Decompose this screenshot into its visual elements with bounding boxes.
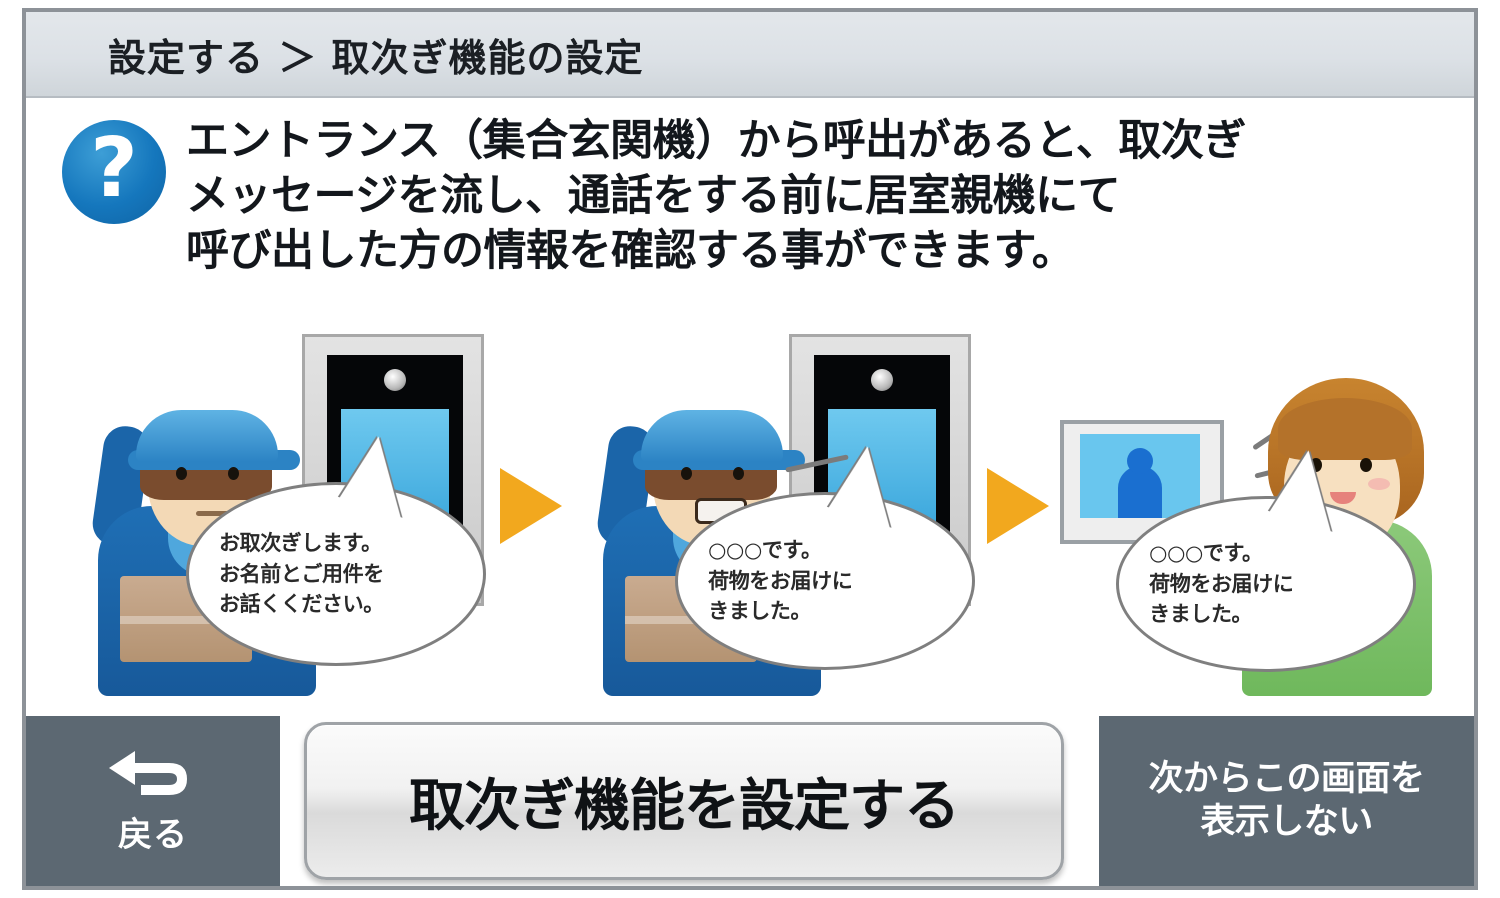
dont-show-again-button[interactable]: 次からこの画面を 表示しない [1099,716,1474,886]
camera-icon [384,369,406,391]
flow-arrow-1-cell [490,468,571,544]
description-block: ? エントランス（集合玄関機）から呼出があると、取次ぎ メッセージを流し、通話を… [62,114,1246,279]
triangle-right-icon [987,468,1049,544]
flow-arrow-2-cell [977,468,1058,544]
speech-bubble-step-1: お取次ぎします。 お名前とご用件を お話くください。 [186,482,486,666]
triangle-right-icon [500,468,562,544]
camera-icon [871,369,893,391]
speech-bubble-step-3: ○○○です。 荷物をお届けに きました。 [1116,496,1416,672]
footer-bar: 戻る 取次ぎ機能を設定する 次からこの画面を 表示しない [26,716,1474,886]
illustration-step-2: ○○○です。 荷物をお届けに きました。 [571,316,977,696]
header-bar: 設定する ＞ 取次ぎ機能の設定 [26,12,1474,98]
eye-left [176,467,187,480]
monitor-screen [1080,434,1200,518]
device-screen: 設定する ＞ 取次ぎ機能の設定 ? エントランス（集合玄関機）から呼出があると、… [0,0,1500,898]
device-frame: 設定する ＞ 取次ぎ機能の設定 ? エントランス（集合玄関機）から呼出があると、… [22,8,1478,890]
content-area: ? エントランス（集合玄関機）から呼出があると、取次ぎ メッセージを流し、通話を… [26,100,1474,716]
cap [136,410,278,462]
question-mark-icon: ? [62,120,166,224]
illustration-step-1: お取次ぎします。 お名前とご用件を お話くください。 [66,316,490,696]
cap [641,410,783,462]
illustration-step-3: ○○○です。 荷物をお届けに きました。 [1058,316,1446,696]
visitor-silhouette-icon [1118,466,1162,518]
speech-bubble-text: ○○○です。 荷物をお届けに きました。 [1119,538,1293,629]
description-text: エントランス（集合玄関機）から呼出があると、取次ぎ メッセージを流し、通話をする… [186,114,1246,279]
set-transfer-function-button[interactable]: 取次ぎ機能を設定する [304,722,1064,880]
breadcrumb: 設定する ＞ 取次ぎ機能の設定 [108,27,643,82]
set-transfer-function-label: 取次ぎ機能を設定する [409,761,959,842]
speech-bubble-step-2: ○○○です。 荷物をお届けに きました。 [675,492,975,670]
eye-right [1360,458,1372,472]
dont-show-again-label: 次からこの画面を 表示しない [1148,758,1424,843]
question-mark-glyph: ? [62,120,166,224]
speech-bubble-text: ○○○です。 荷物をお届けに きました。 [678,535,852,626]
speech-bubble-text: お取次ぎします。 お名前とご用件を お話くください。 [189,528,384,619]
back-button-label: 戻る [118,807,188,856]
eye-right [228,467,239,480]
cheek-right [1368,478,1390,490]
illustration-strip: お取次ぎします。 お名前とご用件を お話くください。 [66,316,1446,696]
back-button[interactable]: 戻る [26,716,280,886]
return-arrow-icon [105,747,201,803]
